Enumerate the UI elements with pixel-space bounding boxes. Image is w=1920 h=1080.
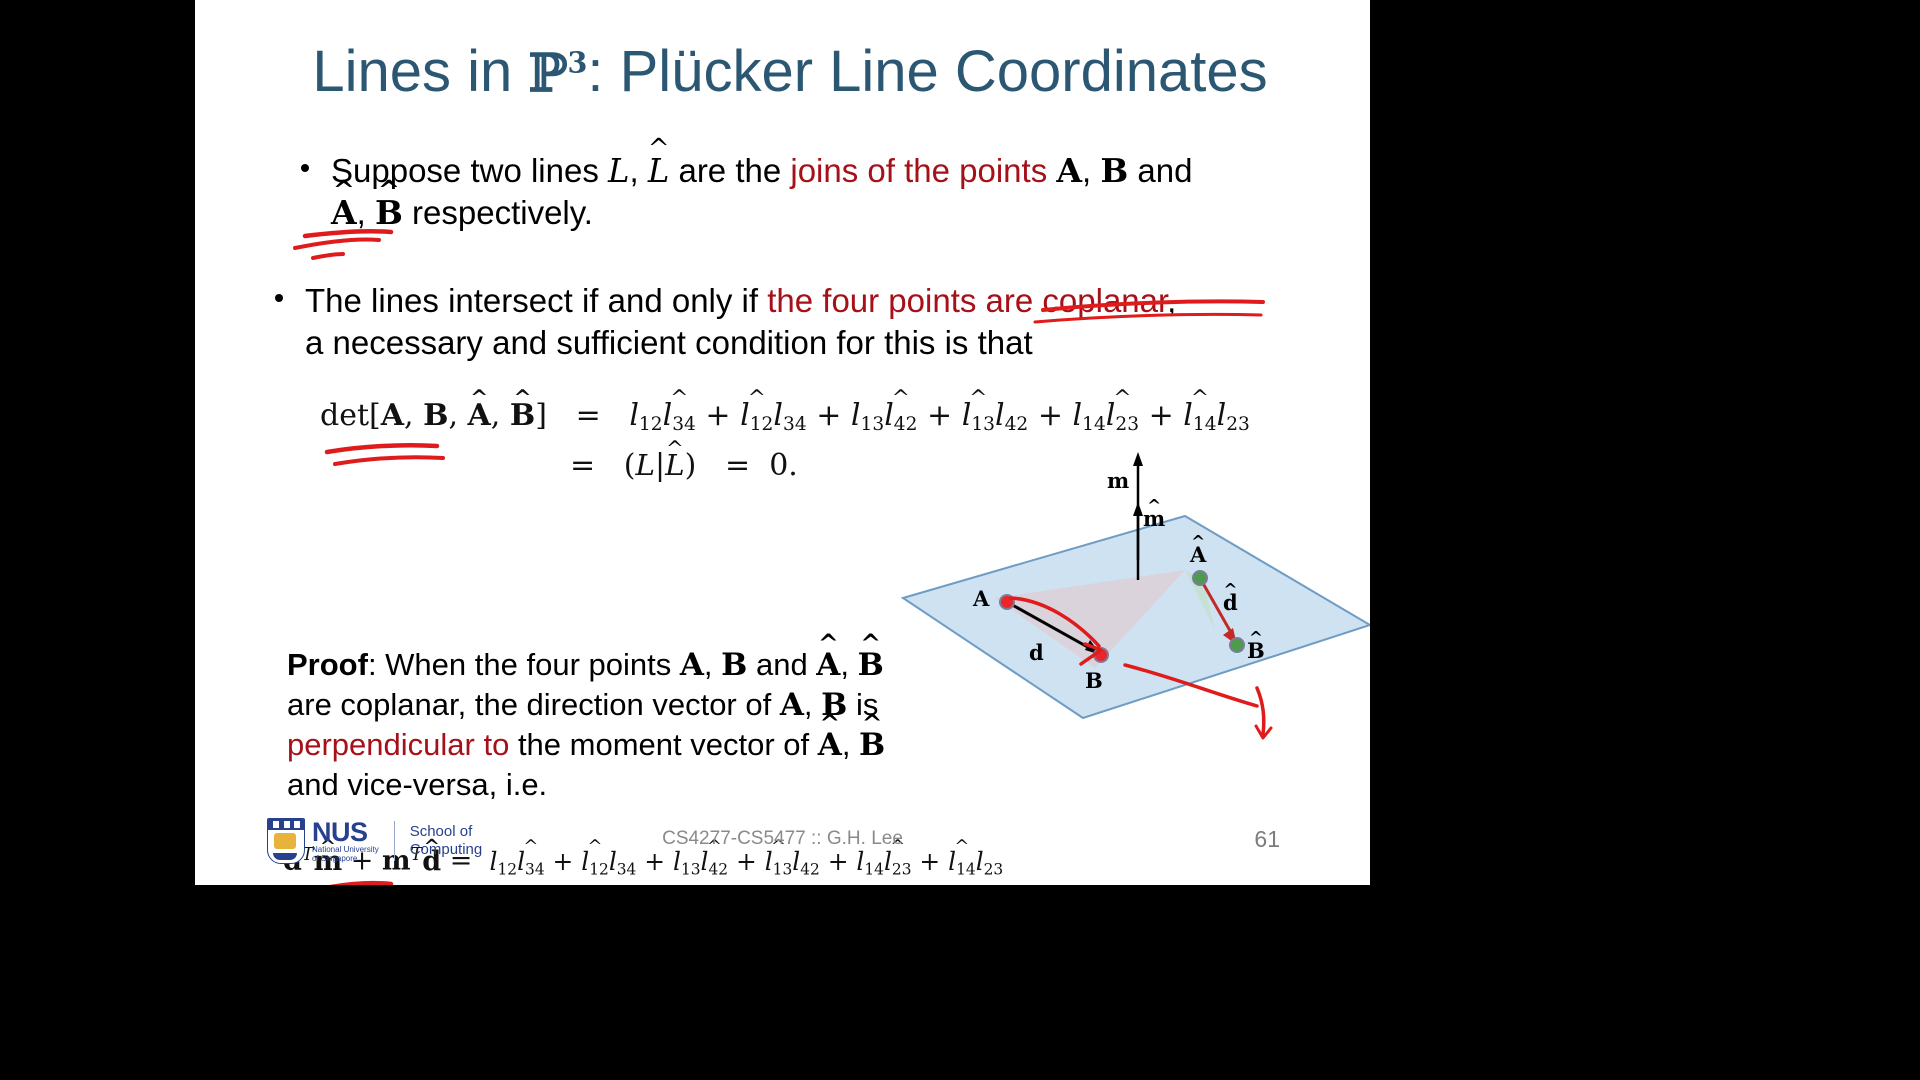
hat-accent-icon: ^ xyxy=(663,388,696,410)
equation-top-line-2: = (L|^L) = 0. xyxy=(570,448,798,483)
plus-3: + xyxy=(927,398,952,433)
bullet-2-text: The lines intersect if and only if the f… xyxy=(305,280,1325,364)
bplus-1: + xyxy=(553,847,574,876)
bullet-1-part-c: are the xyxy=(669,152,790,189)
bterm-l14: l14 xyxy=(856,847,884,876)
bullet-2-comma: , xyxy=(1167,282,1176,319)
proof-bold-B-hat-2: ^B xyxy=(859,725,885,765)
term-l42-hat: ^l42 xyxy=(884,398,917,435)
bullet-item-1: Suppose two lines L, ^L are the joins of… xyxy=(301,150,1301,234)
hat-accent-icon: ^ xyxy=(331,178,357,204)
det-bracket-close: ] xyxy=(535,398,547,433)
proof-highlight: perpendicular to xyxy=(287,727,509,762)
bullet-1-line2-tail: respectively. xyxy=(403,194,593,231)
bullet-2-highlight: the four points are coplanar xyxy=(767,282,1167,319)
bold-B-hat-1: ^B xyxy=(375,192,403,234)
hat-accent-icon: ^ xyxy=(816,632,840,657)
screenshot-root: Lines in ℙ3: Plücker Line Coordinates Su… xyxy=(0,0,1920,1080)
title-prefix: Lines in xyxy=(312,39,528,104)
m-arrow-head xyxy=(1133,452,1143,466)
bold-A-hat-1: ^A xyxy=(331,192,357,234)
hat-accent-icon: ^ xyxy=(510,388,535,410)
hat-accent-icon: ^ xyxy=(1143,497,1165,514)
bullet-1-highlight: joins of the points xyxy=(790,152,1047,189)
hat-accent-icon: ^ xyxy=(648,137,669,163)
bterm-l42-hat: ^l42 xyxy=(701,847,729,878)
proof-p1: When the four points xyxy=(385,647,680,682)
bterm-l12-hat: ^l12 xyxy=(581,847,609,878)
eq-bold-B: B xyxy=(423,398,448,433)
eq-bold-A-hat: ^A xyxy=(468,398,491,433)
title-suffix: : Plücker Line Coordinates xyxy=(587,39,1267,104)
diagram-label-m: m xyxy=(1107,468,1129,493)
plus-2: + xyxy=(816,398,841,433)
diagram-label-A: A xyxy=(973,586,989,611)
bullet-dot-icon xyxy=(275,294,283,302)
bterm-l13-hat: ^l13 xyxy=(765,847,793,878)
term-l23: l23 xyxy=(1217,398,1250,433)
term-l13-hat: ^l13 xyxy=(962,398,995,435)
bterm-l23-hat: ^l23 xyxy=(884,847,912,878)
bterm-l34-hat: ^l34 xyxy=(517,847,545,878)
annotation-stroke-dm-1 xyxy=(325,883,391,885)
hat-accent-icon: ^ xyxy=(1247,629,1265,646)
annotation-underline-det xyxy=(327,445,437,452)
bold-A-1: A xyxy=(1056,151,1082,190)
term-l12: l12 xyxy=(629,398,662,433)
hat-accent-icon: ^ xyxy=(619,884,641,885)
hat-accent-icon: ^ xyxy=(884,388,917,410)
diagram-label-d: d xyxy=(1029,640,1044,665)
hat-accent-icon: ^ xyxy=(375,178,403,204)
bullet-1-comma-2: , xyxy=(1082,152,1100,189)
page-title: Lines in ℙ3: Plücker Line Coordinates xyxy=(255,38,1325,105)
hat-accent-icon: ^ xyxy=(1183,388,1216,410)
script-L-2: L xyxy=(635,448,655,482)
bullet-1-part-f: and xyxy=(1128,152,1192,189)
diagram-label-B-hat: ^B xyxy=(1247,638,1265,663)
bullet-item-2: The lines intersect if and only if the f… xyxy=(275,280,1325,364)
plus-4: + xyxy=(1038,398,1063,433)
script-L-hat-1: ^L xyxy=(648,150,669,192)
eq-bold-A: A xyxy=(381,398,404,433)
bplus-2: + xyxy=(644,847,665,876)
plus-5: + xyxy=(1149,398,1174,433)
term-l34: l34 xyxy=(773,398,806,433)
nus-sub-2: of Singapore xyxy=(312,854,379,863)
title-exponent: 3 xyxy=(567,46,587,80)
proof-bold-B-1: B xyxy=(721,647,747,683)
bullet-1-text: Suppose two lines L, ^L are the joins of… xyxy=(331,150,1301,234)
annotation-tick-AB-hat xyxy=(313,254,343,258)
proof-p9: , xyxy=(842,727,859,762)
bold-B-1: B xyxy=(1100,151,1128,190)
bterm-l34: l34 xyxy=(609,847,637,876)
hat-accent-icon: ^ xyxy=(818,712,842,737)
hat-accent-icon: ^ xyxy=(740,388,773,410)
bullet-dot-icon xyxy=(301,164,309,172)
diagram-label-B: B xyxy=(1085,668,1103,693)
pipe: | xyxy=(655,448,665,483)
hat-accent-icon: ^ xyxy=(858,632,884,657)
hat-accent-icon: ^ xyxy=(1190,533,1206,550)
bplus-5: + xyxy=(919,847,940,876)
proof-p8: the moment vector of xyxy=(509,727,817,762)
hat-accent-icon: ^ xyxy=(1106,388,1139,410)
proof-bold-B-hat-1: ^B xyxy=(858,645,884,685)
equals-sign: = xyxy=(576,398,601,433)
term-l23-hat: ^l23 xyxy=(1106,398,1139,435)
diagram-svg xyxy=(885,450,1370,780)
proof-p10: and vice-versa, i.e. xyxy=(287,767,547,802)
rhs-sum: l12^l34 + ^l12l34 + l13^l42 + ^l13l42 + … xyxy=(490,847,1004,876)
bullet-1-space xyxy=(1047,152,1056,189)
equation-top-line-1: det[A, B, ^A, ^B] = l12^l34 + ^l12l34 + … xyxy=(320,398,1250,435)
blackboard-p-icon: ℙ3 xyxy=(528,43,587,104)
bullet-1-comma: , xyxy=(629,152,647,189)
hat-accent-icon: ^ xyxy=(1223,581,1238,598)
bullet-1-part-a: Suppose two lines xyxy=(331,152,608,189)
diagram-label-m-hat: ^m xyxy=(1143,506,1165,531)
bplus-4: + xyxy=(828,847,849,876)
m-hat-arrow-head xyxy=(1133,502,1143,516)
hat-accent-icon: ^ xyxy=(665,438,685,459)
bterm-l13: l13 xyxy=(673,847,701,876)
proof-p5: are coplanar, the direction vector of xyxy=(287,687,780,722)
term-l12-hat: ^l12 xyxy=(740,398,773,435)
script-L-1: L xyxy=(608,152,629,190)
proof-bold-A-hat-2: ^A xyxy=(818,725,842,765)
proof-p4: , xyxy=(840,647,857,682)
proof-bold-A-1: A xyxy=(680,647,704,683)
term-l34-hat: ^l34 xyxy=(663,398,696,435)
equals-sign-3: = xyxy=(725,448,750,483)
bullet-1-line2-sep: , xyxy=(357,194,375,231)
bterm-l14-hat: ^l14 xyxy=(948,847,976,878)
bterm-l12: l12 xyxy=(490,847,518,876)
hat-accent-icon: ^ xyxy=(659,884,683,885)
proof-label: Proof xyxy=(287,647,368,682)
hat-accent-icon: ^ xyxy=(962,388,995,410)
bullet-2-part-a: The lines intersect if and only if xyxy=(305,282,767,319)
slide-canvas: Lines in ℙ3: Plücker Line Coordinates Su… xyxy=(195,0,1370,885)
bullet-2-line2: a necessary and sufficient condition for… xyxy=(305,324,1033,361)
annotation-underline-det-2 xyxy=(335,457,443,464)
bterm-l42: l42 xyxy=(792,847,820,876)
plucker-line-diagram: A B ^A ^B d ^d m ^m xyxy=(885,450,1370,780)
proof-p2: , xyxy=(704,647,721,682)
proof-bold-A-2: A xyxy=(780,687,804,723)
inner-product: (L|^L) xyxy=(624,448,697,483)
equals-sign-2: = xyxy=(570,448,595,483)
proof-p3: and xyxy=(747,647,816,682)
term-l42: l42 xyxy=(995,398,1028,433)
point-B-hat xyxy=(1230,638,1244,652)
bplus-3: + xyxy=(736,847,757,876)
script-L-hat-2: ^L xyxy=(665,448,685,482)
hat-accent-icon: ^ xyxy=(859,712,885,737)
crest-base xyxy=(273,853,297,860)
point-A-hat xyxy=(1193,571,1207,585)
diagram-label-A-hat: ^A xyxy=(1190,542,1206,567)
eq-bold-B-hat: ^B xyxy=(510,398,535,433)
proof-bold-A-hat-1: ^A xyxy=(816,645,840,685)
hat-accent-icon: ^ xyxy=(468,388,491,410)
diagram-label-d-hat: ^d xyxy=(1223,590,1238,615)
term-l14-hat: ^l14 xyxy=(1183,398,1216,435)
annotation-underline-AB-hat-2 xyxy=(295,239,379,248)
det-operator: det[ xyxy=(320,398,381,433)
term-l14: l14 xyxy=(1073,398,1106,433)
proof-colon: : xyxy=(368,647,385,682)
bterm-l23: l23 xyxy=(976,847,1004,876)
term-l13: l13 xyxy=(851,398,884,433)
footer-page-number: 61 xyxy=(1254,826,1280,853)
result-zero: 0. xyxy=(769,448,798,483)
proof-paragraph: Proof: When the four points A, B and ^A,… xyxy=(287,645,907,805)
plus-1: + xyxy=(705,398,730,433)
footer-course-text: CS4277-CS5477 :: G.H. Lee xyxy=(195,828,1370,850)
